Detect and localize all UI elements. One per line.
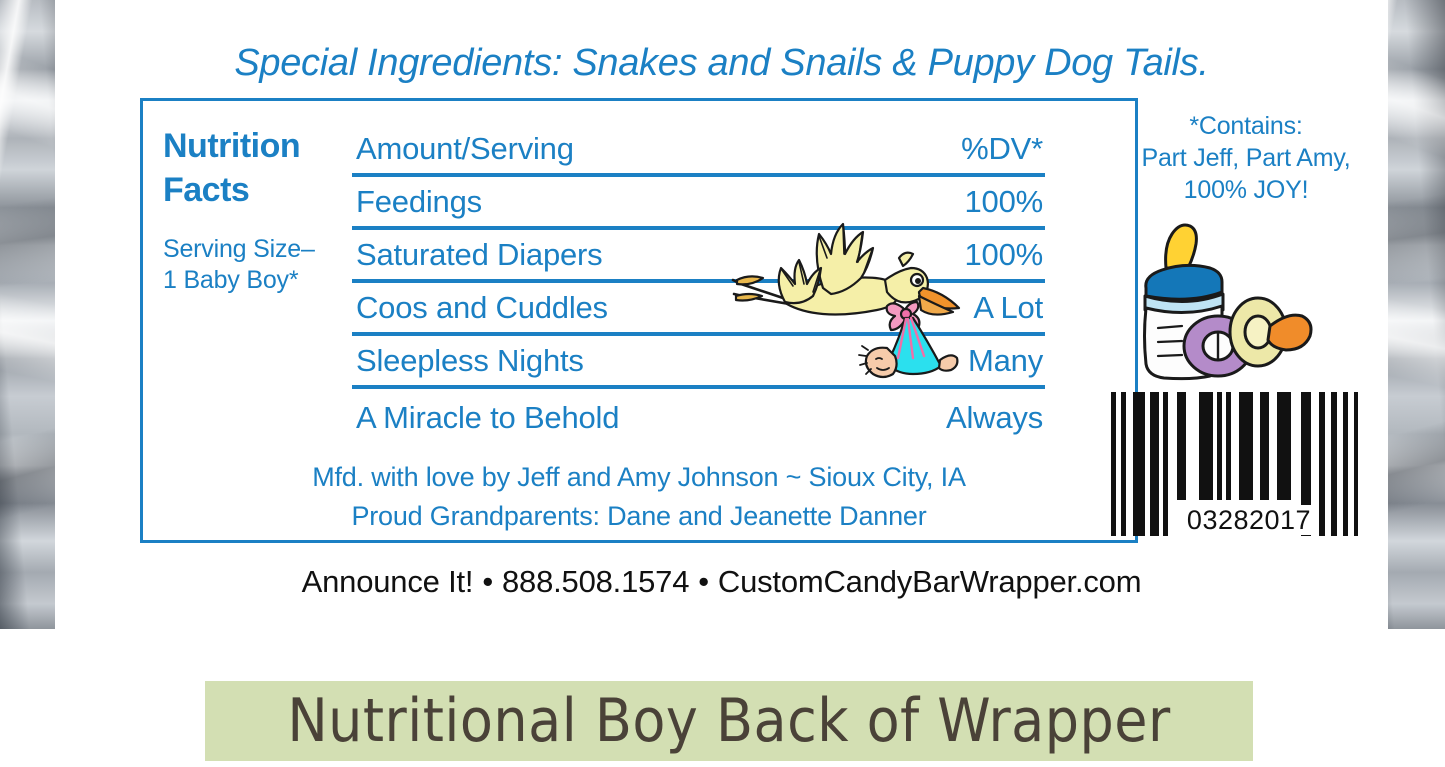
row-value: %DV* [961,131,1043,167]
table-row: A Miracle to Behold Always [352,389,1045,442]
phone-number: 888.508.1574 [502,564,689,599]
manufacturer-line: Mfd. with love by Jeff and Amy Johnson ~… [140,458,1138,497]
row-value: 100% [965,237,1044,273]
contains-block: *Contains: Part Jeff, Part Amy, 100% JOY… [1105,110,1387,206]
row-label: Amount/Serving [356,131,574,167]
barcode-number-text: 03282017 [1183,505,1315,535]
separator-dot: • [689,564,718,599]
row-label: Coos and Cuddles [356,290,608,326]
nutrition-facts-title-line2: Facts [163,169,363,213]
serving-size-block: Serving Size– 1 Baby Boy* [163,234,383,297]
caption-title: Nutritional Boy Back of Wrapper [205,681,1253,761]
manufacturer-footer: Mfd. with love by Jeff and Amy Johnson ~… [140,458,1138,536]
contains-line1: *Contains: [1105,110,1387,142]
row-value: 100% [965,184,1044,220]
row-value: Many [968,343,1043,379]
row-value: Always [946,400,1043,436]
special-ingredients-headline: Special Ingredients: Snakes and Snails &… [55,42,1388,85]
row-label: Sleepless Nights [356,343,584,379]
table-row: Amount/Serving %DV* [352,124,1045,177]
row-label: Feedings [356,184,482,220]
row-value: A Lot [973,290,1043,326]
brand-name: Announce It! [302,564,474,599]
contains-line3: 100% JOY! [1105,174,1387,206]
barcode-number: 03282017 [1105,505,1393,536]
contact-line: Announce It!•888.508.1574•CustomCandyBar… [55,564,1388,600]
baby-bottle-and-pacifier-icon [1130,216,1320,384]
caption-banner: Nutritional Boy Back of Wrapper [205,681,1253,761]
nutrition-facts-title-line1: Nutrition [163,125,363,169]
serving-size-line2: 1 Baby Boy* [163,265,383,296]
wrapper-label: Special Ingredients: Snakes and Snails &… [55,0,1388,629]
separator-dot: • [473,564,502,599]
grandparents-line: Proud Grandparents: Dane and Jeanette Da… [140,497,1138,536]
serving-size-line1: Serving Size– [163,234,383,265]
wrapper-screenshot: Special Ingredients: Snakes and Snails &… [0,0,1445,767]
website-url: CustomCandyBarWrapper.com [718,564,1141,599]
nutrition-facts-title: Nutrition Facts [163,125,363,212]
contains-line2: Part Jeff, Part Amy, [1105,142,1387,174]
stork-carrying-baby-icon [727,218,975,388]
row-label: Saturated Diapers [356,237,602,273]
barcode-icon: 03282017 [1105,390,1393,538]
row-label: A Miracle to Behold [356,400,619,436]
